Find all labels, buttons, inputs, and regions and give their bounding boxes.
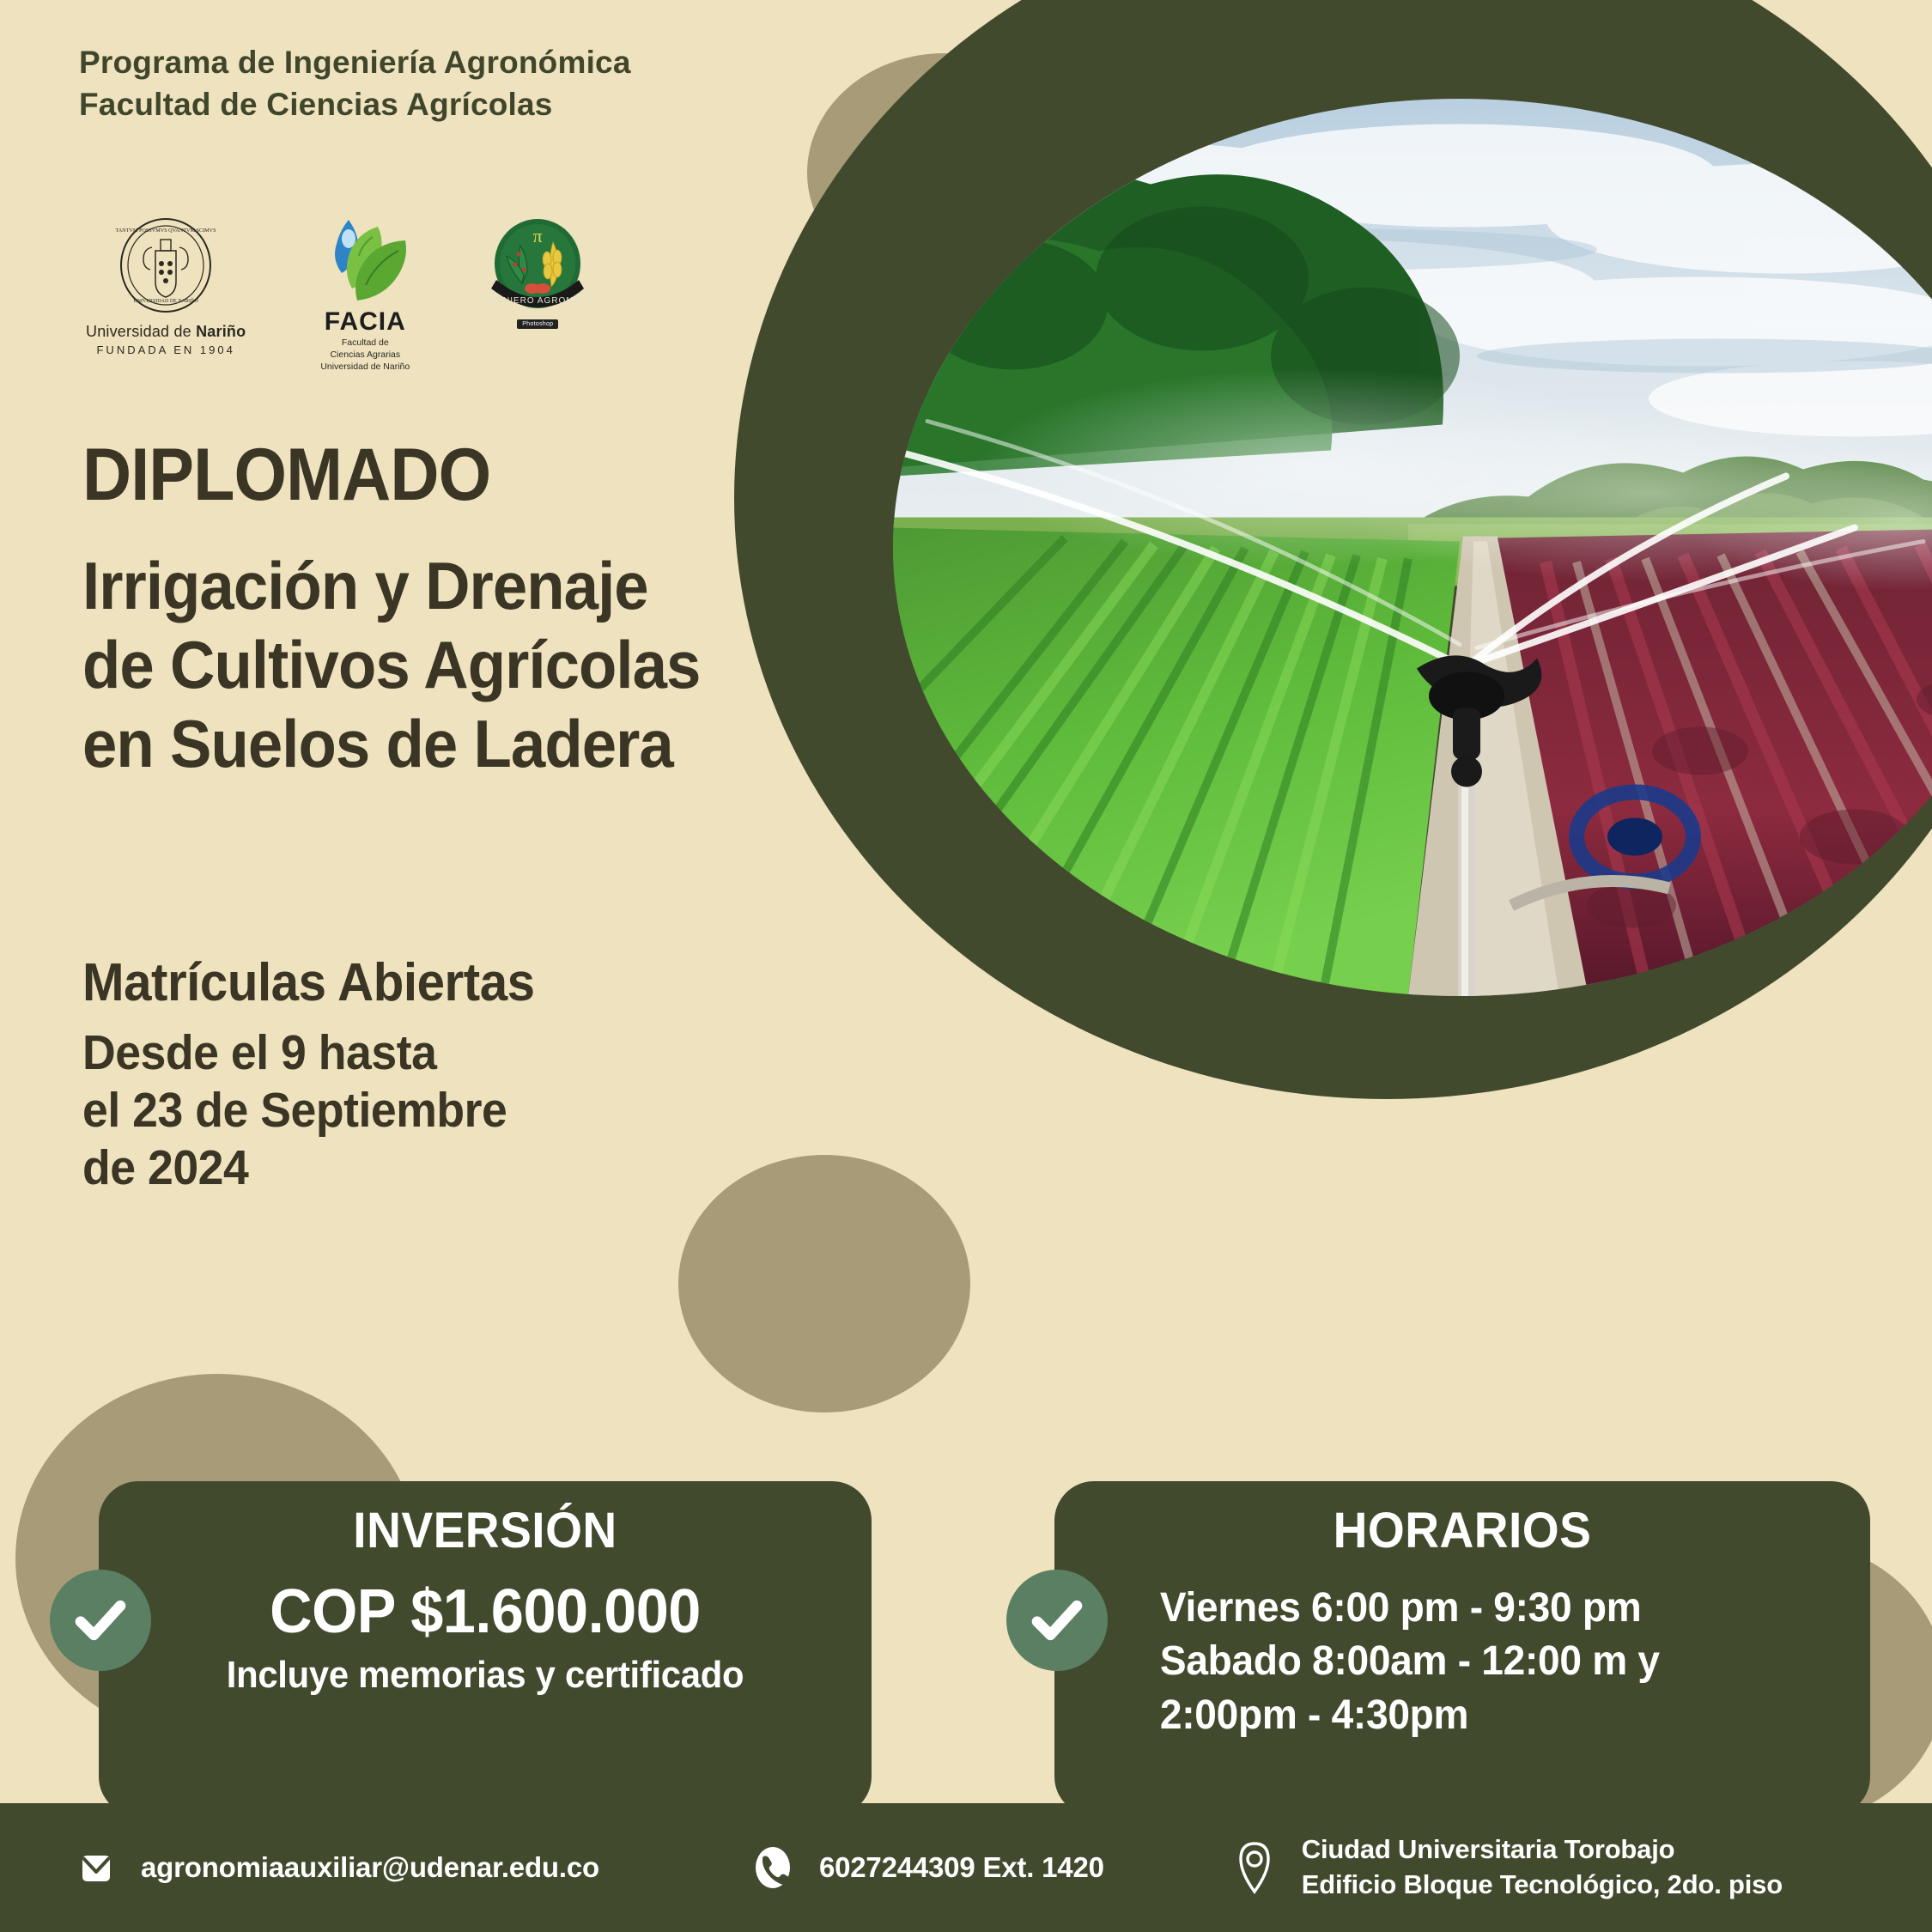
- poster-canvas: Programa de Ingeniería Agronómica Facult…: [0, 0, 1932, 1932]
- program-name: Programa de Ingeniería Agronómica: [79, 41, 852, 83]
- course-title-line-1: Irrigación y Drenaje: [82, 546, 849, 625]
- horario-line-1: Viernes 6:00 pm - 9:30 pm: [1160, 1582, 1818, 1635]
- check-badge-inversion: [50, 1570, 151, 1671]
- check-badge-horarios: [1006, 1570, 1108, 1671]
- enrollment-date-line-3: de 2024: [82, 1139, 776, 1197]
- faculty-name: Facultad de Ciencias Agrícolas: [79, 83, 852, 125]
- university-name-bold: Nariño: [196, 323, 246, 340]
- university-seal-icon: TANTVM POSSVMVS QVANTVM SCIMVS UNIVERSID…: [114, 216, 217, 318]
- contact-phone-text: 6027244309 Ext. 1420: [819, 1849, 1104, 1886]
- logo-facia: FACIA Facultad de Ciencias Agrarias Univ…: [318, 216, 412, 374]
- inversion-amount: COP $1.600.000: [118, 1577, 853, 1647]
- facia-leaf-drop-icon: [318, 216, 412, 306]
- logo-row: TANTVM POSSVMVS QVANTVM SCIMVS UNIVERSID…: [86, 216, 591, 374]
- svg-text:INGENIERO AGRONOMO: INGENIERO AGRONOMO: [484, 296, 591, 306]
- photoshop-badge-tag: Photoshop: [517, 319, 558, 329]
- course-title-line-2: de Cultivos Agrícolas: [82, 625, 849, 704]
- inversion-card: INVERSIÓN COP $1.600.000 Incluye memoria…: [99, 1481, 872, 1816]
- svg-text:UNIVERSIDAD DE NARIÑO: UNIVERSIDAD DE NARIÑO: [133, 297, 198, 304]
- address-line-2: Edificio Bloque Tecnológico, 2do. piso: [1302, 1868, 1783, 1903]
- facia-sub-line1: Facultad de: [342, 337, 389, 349]
- inversion-note: Incluye memorias y certificado: [118, 1654, 853, 1697]
- university-name-prefix: Universidad de: [86, 323, 196, 340]
- contact-address-text: Ciudad Universitaria Torobajo Edificio B…: [1302, 1832, 1783, 1903]
- kicker-diplomado: DIPLOMADO: [82, 438, 841, 512]
- agronomist-emblem-icon: π INGENIERO AGRONOMO: [484, 216, 591, 318]
- logo-ingeniero-agronomo: π INGENIERO AGRONOMO: [484, 216, 591, 329]
- contact-email-text: agronomiaauxiliar@udenar.edu.co: [141, 1849, 599, 1886]
- program-header: Programa de Ingeniería Agronómica Facult…: [79, 41, 852, 125]
- check-icon: [1025, 1589, 1089, 1652]
- svg-text:TANTVM POSSVMVS QVANTVM SCIMVS: TANTVM POSSVMVS QVANTVM SCIMVS: [116, 228, 217, 234]
- inversion-card-title: INVERSIÓN: [118, 1502, 853, 1559]
- facia-sub-line2: Ciencias Agrarias: [330, 349, 400, 361]
- facia-wordmark: FACIA: [325, 307, 406, 337]
- enrollment-date-line-2: el 23 de Septiembre: [82, 1082, 776, 1139]
- phone-icon: [749, 1844, 797, 1892]
- enrollment-dates: Desde el 9 hasta el 23 de Septiembre de …: [82, 1024, 776, 1196]
- course-title-line-3: en Suelos de Ladera: [82, 704, 849, 783]
- horario-line-3: 2:00pm - 4:30pm: [1160, 1689, 1818, 1742]
- email-icon: [74, 1845, 118, 1890]
- address-line-1: Ciudad Universitaria Torobajo: [1302, 1832, 1783, 1868]
- enrollment-heading: Matrículas Abiertas: [82, 953, 776, 1012]
- footer-contact-bar: agronomiaauxiliar@udenar.edu.co 60272443…: [0, 1803, 1932, 1932]
- logo-universidad-de-narino: TANTVM POSSVMVS QVANTVM SCIMVS UNIVERSID…: [86, 216, 246, 356]
- horarios-card-body: Viernes 6:00 pm - 9:30 pm Sabado 8:00am …: [1054, 1582, 1838, 1742]
- inversion-card-body: COP $1.600.000 Incluye memorias y certif…: [99, 1577, 872, 1697]
- enrollment-block: Matrículas Abiertas Desde el 9 hasta el …: [82, 953, 821, 1197]
- contact-phone[interactable]: 6027244309 Ext. 1420: [749, 1844, 1104, 1892]
- location-pin-icon: [1230, 1838, 1279, 1897]
- university-name-caption: Universidad de Nariño: [86, 323, 246, 341]
- horarios-card: HORARIOS Viernes 6:00 pm - 9:30 pm Sabad…: [1054, 1481, 1870, 1816]
- university-founded-caption: FUNDADA EN 1904: [96, 343, 234, 356]
- svg-text:π: π: [533, 225, 543, 246]
- course-title: Irrigación y Drenaje de Cultivos Agrícol…: [82, 546, 849, 783]
- contact-address: Ciudad Universitaria Torobajo Edificio B…: [1230, 1832, 1783, 1903]
- check-icon: [69, 1589, 132, 1652]
- enrollment-date-line-1: Desde el 9 hasta: [82, 1024, 776, 1082]
- contact-email[interactable]: agronomiaauxiliar@udenar.edu.co: [74, 1845, 599, 1890]
- facia-sub-line3: Universidad de Nariño: [320, 361, 410, 373]
- course-title-block: DIPLOMADO Irrigación y Drenaje de Cultiv…: [82, 438, 907, 783]
- horarios-card-title: HORARIOS: [1075, 1502, 1850, 1559]
- horario-line-2: Sabado 8:00am - 12:00 m y: [1160, 1635, 1818, 1688]
